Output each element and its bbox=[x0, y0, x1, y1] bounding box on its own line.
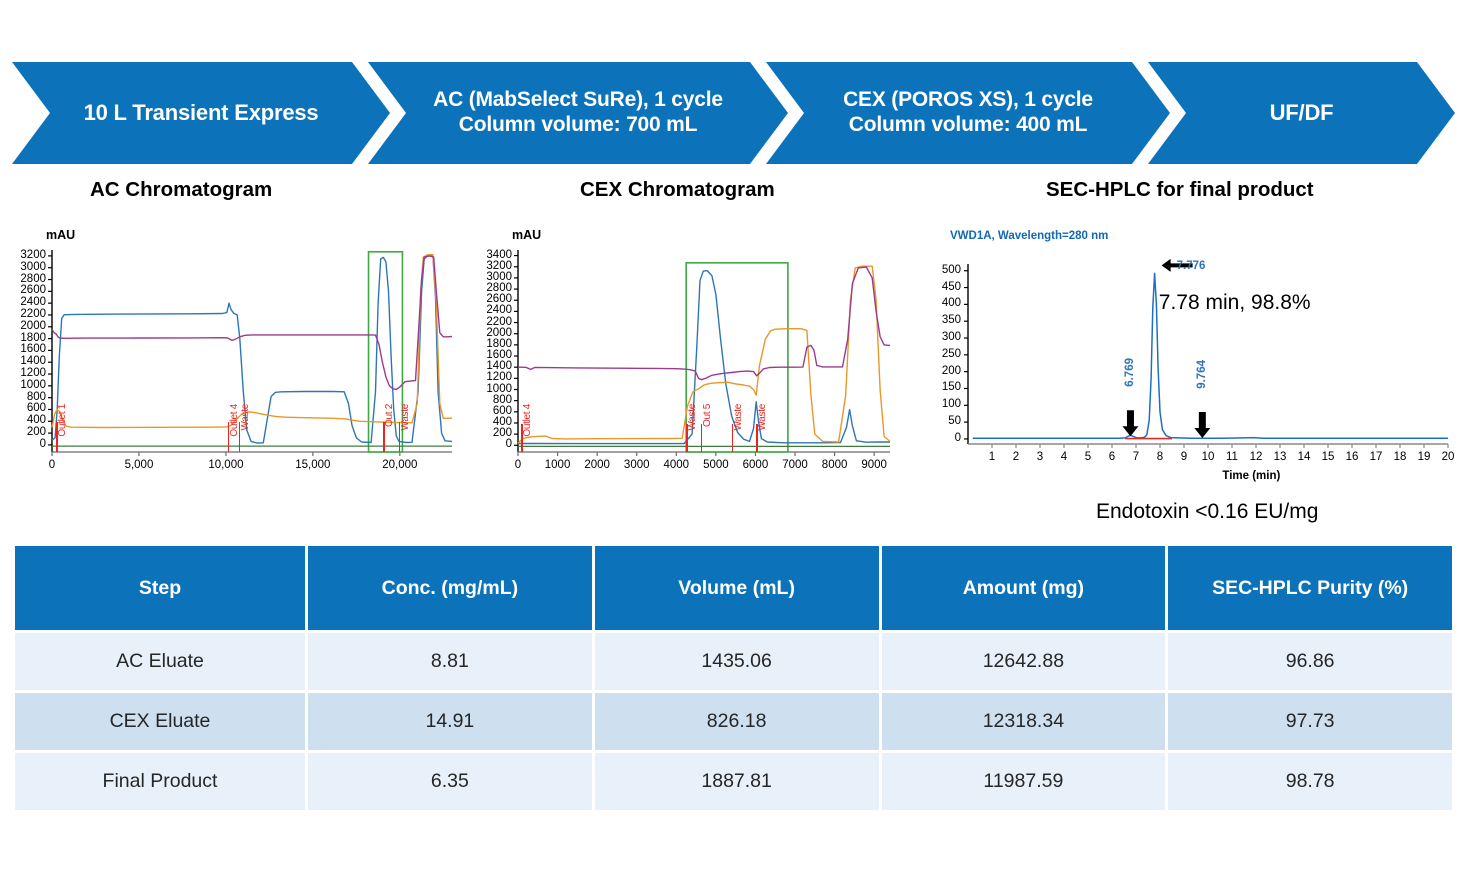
ac-chromatogram-plot: 0200400600800100012001400160018002000220… bbox=[8, 228, 460, 486]
y-tick-label: 400 bbox=[474, 416, 512, 428]
x-tick-label: 9000 bbox=[840, 459, 908, 471]
x-axis-title: Time (min) bbox=[1222, 470, 1280, 482]
flow-step-cex[interactable]: CEX (POROS XS), 1 cycle Column volume: 4… bbox=[766, 62, 1170, 164]
sec-hplc-plot: VWD1A, Wavelength=280 nm0501001502002503… bbox=[920, 228, 1460, 500]
y-tick-label: 2800 bbox=[8, 273, 46, 285]
cell-volume: 826.18 bbox=[595, 693, 879, 750]
slide-root: 10 L Transient Express AC (MabSelect SuR… bbox=[0, 0, 1467, 880]
col-header-conc: Conc. (mg/mL) bbox=[308, 546, 592, 630]
y-tick-label: 2400 bbox=[8, 296, 46, 308]
fraction-mark-label: Waste bbox=[757, 404, 768, 430]
peak-arrow-icon bbox=[920, 228, 1460, 500]
cell-step: CEX Eluate bbox=[15, 693, 305, 750]
endotoxin-text: Endotoxin <0.16 EU/mg bbox=[1096, 500, 1318, 524]
y-axis-unit-label: mAU bbox=[46, 228, 75, 242]
y-tick-label: 600 bbox=[8, 402, 46, 414]
y-tick-label: 800 bbox=[8, 391, 46, 403]
y-tick-label: 2000 bbox=[8, 320, 46, 332]
col-header-volume: Volume (mL) bbox=[595, 546, 879, 630]
y-tick-label: 1600 bbox=[8, 343, 46, 355]
cell-conc: 6.35 bbox=[308, 753, 592, 810]
cell-purity: 97.73 bbox=[1168, 693, 1452, 750]
y-tick-label: 200 bbox=[474, 427, 512, 439]
process-flow-banner: 10 L Transient Express AC (MabSelect SuR… bbox=[12, 62, 1455, 164]
cell-conc: 14.91 bbox=[308, 693, 592, 750]
cell-conc: 8.81 bbox=[308, 633, 592, 690]
y-tick-label: 1400 bbox=[474, 360, 512, 372]
y-tick-label: 200 bbox=[8, 426, 46, 438]
y-tick-label: 2600 bbox=[474, 293, 512, 305]
flow-step-line1: 10 L Transient Express bbox=[84, 100, 319, 126]
fraction-mark-label: Waste bbox=[240, 404, 251, 430]
flow-step-line1: CEX (POROS XS), 1 cycle bbox=[843, 88, 1093, 113]
cell-amount: 11987.59 bbox=[882, 753, 1166, 810]
summary-table: Step Conc. (mg/mL) Volume (mL) Amount (m… bbox=[12, 543, 1455, 813]
y-tick-label: 2800 bbox=[474, 282, 512, 294]
fraction-mark-label: Outlet 4 bbox=[522, 404, 533, 437]
hplc-purity-annotation: 7.78 min, 98.8% bbox=[1159, 291, 1311, 315]
flow-step-line1: AC (MabSelect SuRe), 1 cycle bbox=[433, 88, 723, 113]
cell-purity: 98.78 bbox=[1168, 753, 1452, 810]
y-tick-label: 1800 bbox=[8, 332, 46, 344]
cell-purity: 96.86 bbox=[1168, 633, 1452, 690]
cell-volume: 1435.06 bbox=[595, 633, 879, 690]
y-tick-label: 3200 bbox=[8, 249, 46, 261]
x-tick-label: 0 bbox=[18, 459, 86, 471]
flow-step-ufdf[interactable]: UF/DF bbox=[1148, 62, 1455, 164]
y-tick-label: 3000 bbox=[8, 261, 46, 273]
x-tick-label: 10,000 bbox=[192, 459, 260, 471]
table-row: Final Product 6.35 1887.81 11987.59 98.7… bbox=[15, 753, 1452, 810]
y-tick-label: 1000 bbox=[474, 383, 512, 395]
col-header-amount: Amount (mg) bbox=[882, 546, 1166, 630]
ac-chromatogram-svg bbox=[8, 228, 460, 486]
fraction-mark-label: Waste bbox=[733, 404, 744, 430]
y-tick-label: 0 bbox=[474, 438, 512, 450]
y-tick-label: 2000 bbox=[474, 327, 512, 339]
flow-step-line2: Column volume: 700 mL bbox=[433, 113, 723, 138]
col-header-purity: SEC-HPLC Purity (%) bbox=[1168, 546, 1452, 630]
fraction-mark-label: Waste bbox=[400, 404, 411, 430]
ac-chromatogram-title: AC Chromatogram bbox=[90, 178, 272, 202]
table-header-row: Step Conc. (mg/mL) Volume (mL) Amount (m… bbox=[15, 546, 1452, 630]
y-tick-label: 2200 bbox=[474, 316, 512, 328]
y-tick-label: 1200 bbox=[8, 367, 46, 379]
y-tick-label: 2200 bbox=[8, 308, 46, 320]
cell-step: Final Product bbox=[15, 753, 305, 810]
y-tick-label: 1000 bbox=[8, 379, 46, 391]
cell-amount: 12318.34 bbox=[882, 693, 1166, 750]
x-tick-label: 5,000 bbox=[105, 459, 173, 471]
cex-chromatogram-plot: 0200400600800100012001400160018002000220… bbox=[474, 228, 898, 486]
y-tick-label: 0 bbox=[8, 438, 46, 450]
fraction-mark-label: Waste bbox=[687, 404, 698, 430]
fraction-mark-label: Out 2 bbox=[384, 404, 395, 427]
x-tick-label: 15,000 bbox=[279, 459, 347, 471]
table-row: AC Eluate 8.81 1435.06 12642.88 96.86 bbox=[15, 633, 1452, 690]
y-axis-unit-label: mAU bbox=[512, 228, 541, 242]
peak-retention-label: 9.764 bbox=[1196, 360, 1208, 389]
cell-volume: 1887.81 bbox=[595, 753, 879, 810]
y-tick-label: 800 bbox=[474, 394, 512, 406]
y-tick-label: 2400 bbox=[474, 304, 512, 316]
y-tick-label: 3200 bbox=[474, 260, 512, 272]
y-tick-label: 600 bbox=[474, 405, 512, 417]
cell-amount: 12642.88 bbox=[882, 633, 1166, 690]
y-tick-label: 3000 bbox=[474, 271, 512, 283]
flow-step-line1: UF/DF bbox=[1270, 100, 1334, 126]
fraction-mark-label: Outlet 1 bbox=[57, 404, 68, 437]
y-tick-label: 3400 bbox=[474, 249, 512, 261]
x-tick-label: 20,000 bbox=[366, 459, 434, 471]
table-row: CEX Eluate 14.91 826.18 12318.34 97.73 bbox=[15, 693, 1452, 750]
flow-step-transient-express[interactable]: 10 L Transient Express bbox=[12, 62, 390, 164]
y-tick-label: 1600 bbox=[474, 349, 512, 361]
fraction-mark-label: Out 5 bbox=[702, 404, 713, 427]
cex-chromatogram-title: CEX Chromatogram bbox=[580, 178, 775, 202]
y-tick-label: 1200 bbox=[474, 371, 512, 383]
y-tick-label: 2600 bbox=[8, 284, 46, 296]
flow-step-ac[interactable]: AC (MabSelect SuRe), 1 cycle Column volu… bbox=[368, 62, 788, 164]
y-tick-label: 1400 bbox=[8, 355, 46, 367]
col-header-step: Step bbox=[15, 546, 305, 630]
cell-step: AC Eluate bbox=[15, 633, 305, 690]
flow-step-line2: Column volume: 400 mL bbox=[843, 113, 1093, 138]
y-tick-label: 1800 bbox=[474, 338, 512, 350]
y-tick-label: 400 bbox=[8, 414, 46, 426]
fraction-mark-tick bbox=[701, 424, 703, 452]
sec-hplc-title: SEC-HPLC for final product bbox=[1046, 178, 1314, 202]
